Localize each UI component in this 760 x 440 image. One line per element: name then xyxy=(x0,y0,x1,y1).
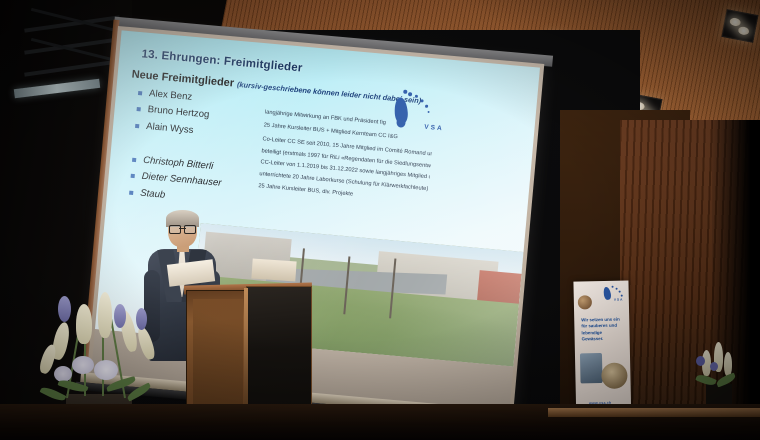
square-bullet-icon xyxy=(129,190,133,194)
ceiling-spotlight-icon xyxy=(722,9,759,43)
vsa-logo-icon: VSA xyxy=(383,86,453,144)
glasses-icon xyxy=(169,225,196,232)
square-bullet-icon xyxy=(135,124,139,128)
papers-on-lectern xyxy=(251,258,296,281)
square-bullet-icon xyxy=(138,91,142,95)
flower-arrangement-right xyxy=(686,332,750,410)
banner-surface: VSA Wir setzen uns ein für sauberes und … xyxy=(573,280,631,418)
honoree-name: Bruno Hertzog xyxy=(147,104,210,120)
square-bullet-icon xyxy=(131,174,135,178)
square-bullet-icon xyxy=(136,107,140,111)
stage-edge xyxy=(548,408,760,417)
name-list-group-1: Alex Benz Bruno Hertzog Alain Wyss xyxy=(134,87,268,148)
honoree-name: Christoph Bitterli xyxy=(143,155,214,172)
honoree-name: Alain Wyss xyxy=(146,121,194,136)
banner-slogan: Wir setzen uns ein für sauberes und lebe… xyxy=(581,317,624,343)
banner-photo-right xyxy=(601,362,628,389)
banner-photo-left xyxy=(580,353,603,383)
slide-subtitle-text: Neue Freimitglieder xyxy=(131,68,234,89)
banner-logo-text: VSA xyxy=(614,298,624,302)
name-list-group-2: Christoph Bitterli Dieter Sennhauser Sta… xyxy=(128,154,262,215)
conference-hall-photo: 13. Ehrungen: Freimitglieder Neue Freimi… xyxy=(0,0,760,440)
vsa-logo-text: VSA xyxy=(424,124,444,133)
square-bullet-icon xyxy=(132,158,136,162)
banner-photo-circle xyxy=(578,295,592,309)
honoree-name: Dieter Sennhauser xyxy=(141,171,222,189)
honoree-name: Alex Benz xyxy=(149,88,193,103)
honoree-name: Staub xyxy=(140,187,166,200)
